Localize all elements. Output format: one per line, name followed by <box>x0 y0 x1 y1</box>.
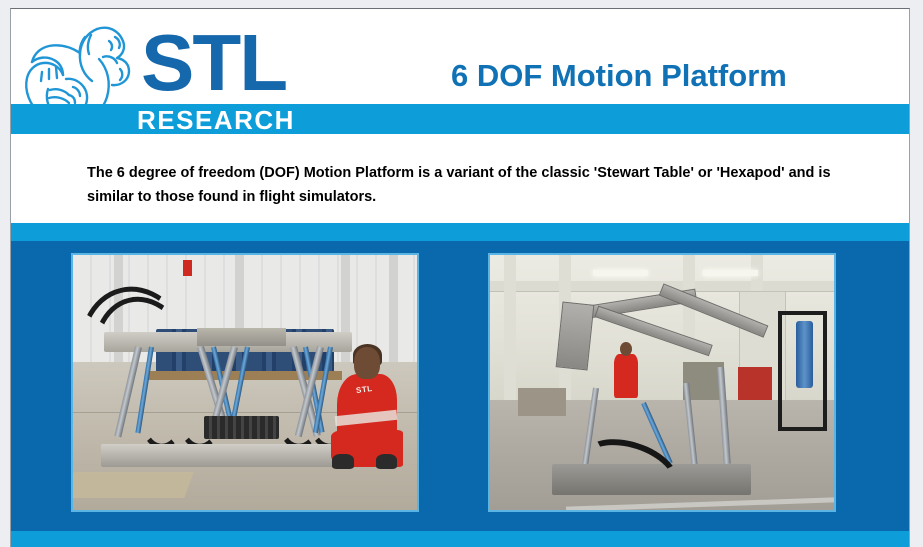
divider-cyan-bar <box>11 223 909 241</box>
worker-stl-badge: STL <box>355 384 373 395</box>
worker-figure-left: STL <box>331 344 403 466</box>
page-title: 6 DOF Motion Platform <box>451 59 787 93</box>
photo-gallery: STL <box>11 241 909 522</box>
footer-panel <box>11 522 909 531</box>
page-header: STL RESEARCH 6 DOF Motion Platform <box>11 9 909 134</box>
brand-name: STL <box>141 23 286 103</box>
photo-right-image <box>490 255 834 510</box>
intro-section: The 6 degree of freedom (DOF) Motion Pla… <box>11 134 909 223</box>
photo-left[interactable]: STL <box>71 253 419 512</box>
brand-tagline: RESEARCH <box>137 107 295 133</box>
footer-cyan-bar <box>11 531 909 547</box>
photo-left-image: STL <box>73 255 417 510</box>
document-page: STL RESEARCH 6 DOF Motion Platform The 6… <box>10 8 910 547</box>
photo-right[interactable] <box>488 253 836 512</box>
intro-paragraph: The 6 degree of freedom (DOF) Motion Pla… <box>87 161 877 209</box>
platform-frame-right <box>559 296 772 383</box>
